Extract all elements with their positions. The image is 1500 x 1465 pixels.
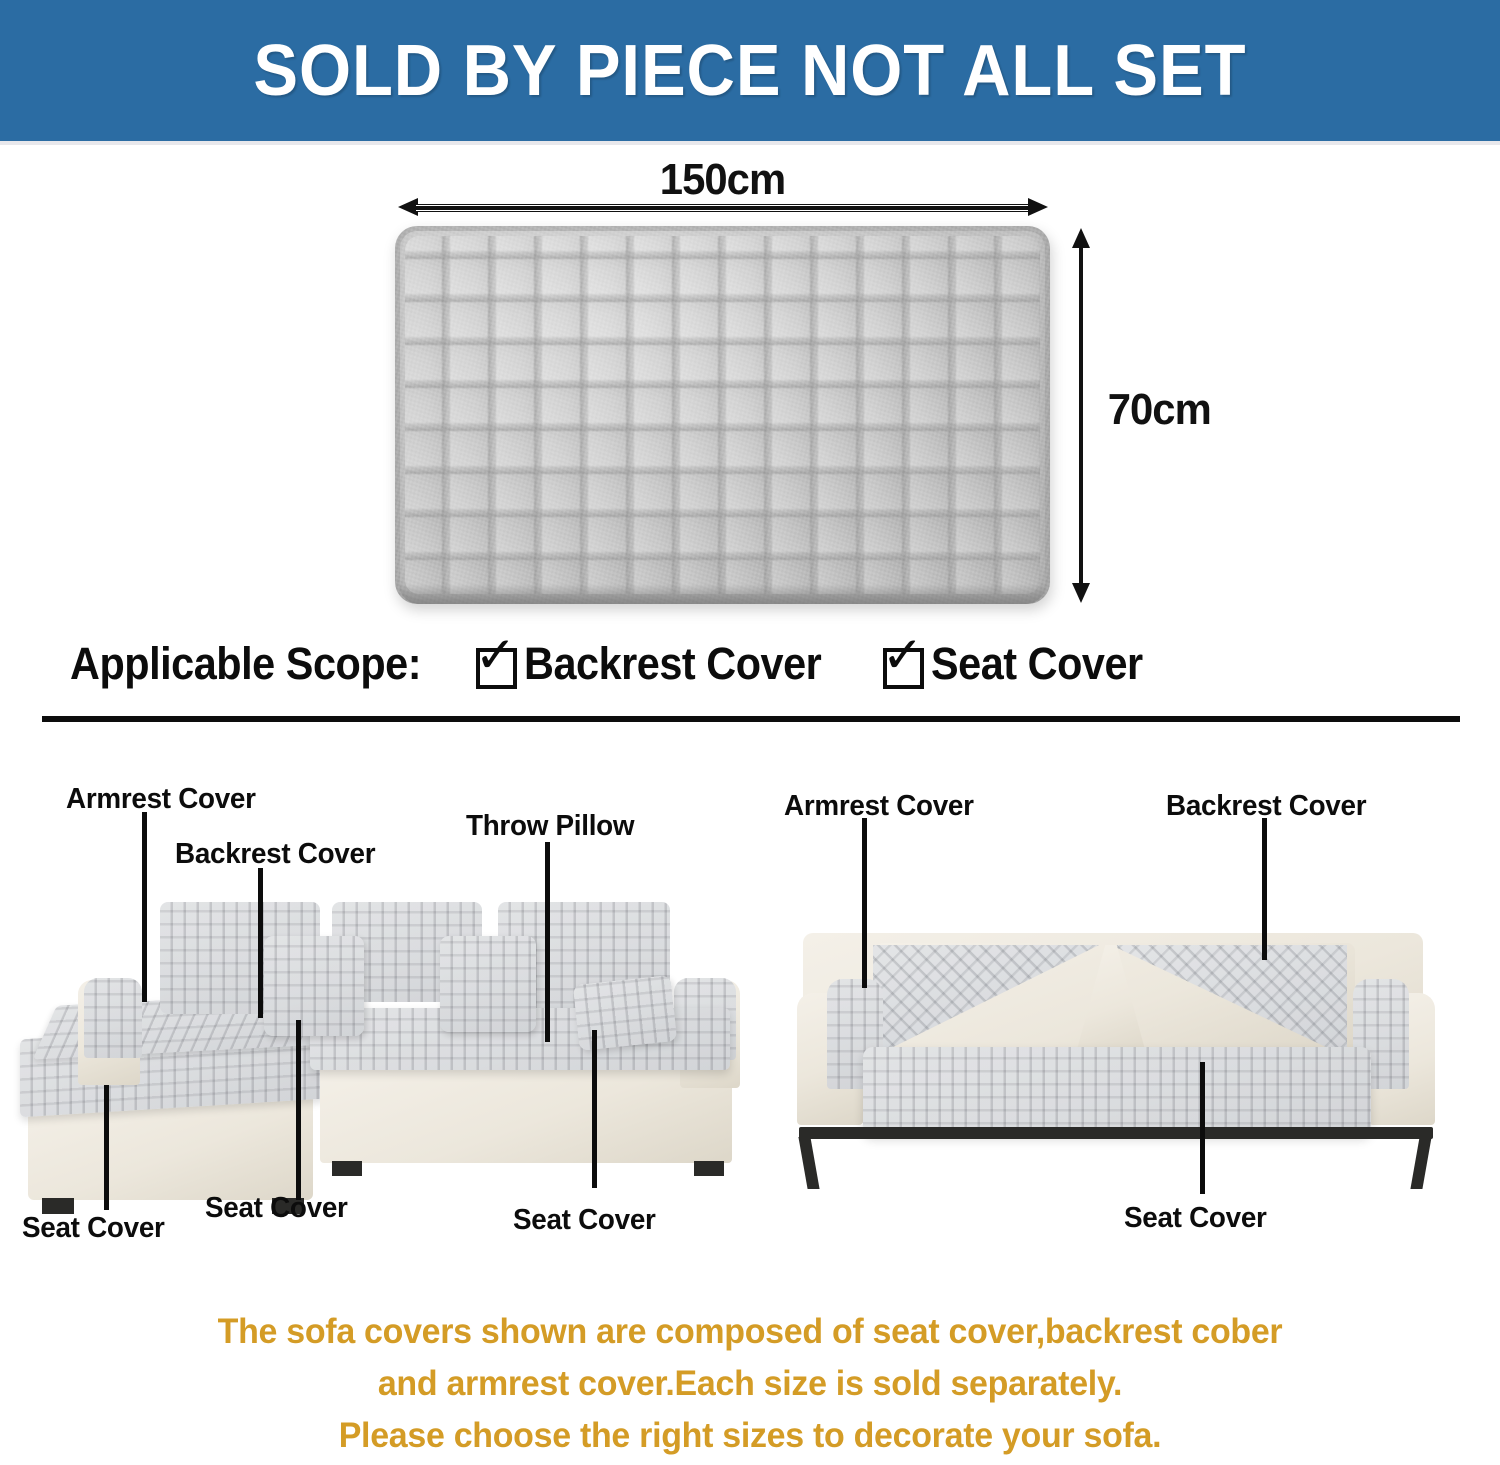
leader-line-seat-cover-chaise-top xyxy=(296,1020,301,1200)
leader-line-throw-pillow xyxy=(545,842,550,1042)
page-title: SOLD BY PIECE NOT ALL SET xyxy=(253,35,1246,107)
frame-leg-left xyxy=(798,1137,819,1189)
arrow-right-icon xyxy=(1028,198,1048,216)
leader-line-armrest-cover-left xyxy=(142,812,147,1002)
main-sofa-leg-right xyxy=(694,1161,724,1176)
check-icon: ✓ xyxy=(882,636,926,680)
checkbox-backrest-cover[interactable]: ✓ xyxy=(476,644,516,684)
header-underline xyxy=(0,141,1500,145)
frame-leg-right xyxy=(1410,1137,1431,1189)
bottom-note: The sofa covers shown are composed of se… xyxy=(23,1306,1478,1462)
checkbox-label-backrest-cover: Backrest Cover xyxy=(524,638,821,690)
height-dimension-arrow xyxy=(1072,228,1090,603)
height-dimension-label: 70cm xyxy=(1108,385,1211,435)
leader-line-backrest-cover-right xyxy=(1262,818,1267,960)
callout-backrest-cover-right: Backrest Cover xyxy=(1166,790,1366,823)
callout-armrest-cover-right: Armrest Cover xyxy=(784,790,974,823)
seat-cover xyxy=(863,1047,1371,1135)
checkbox-label-seat-cover: Seat Cover xyxy=(931,638,1143,690)
left-armrest-cover xyxy=(84,978,142,1058)
frame-rail xyxy=(799,1127,1433,1139)
product-quilted-pad xyxy=(395,226,1050,604)
left-sofa-diagram xyxy=(20,880,760,1240)
leader-line-seat-cover-main xyxy=(592,1030,597,1188)
applicable-scope-row: Applicable Scope: ✓ Backrest Cover ✓ Sea… xyxy=(70,636,1250,692)
throw-pillow-2 xyxy=(440,936,536,1032)
arrow-down-icon xyxy=(1072,583,1090,603)
applicable-scope-label: Applicable Scope: xyxy=(70,638,421,690)
check-icon: ✓ xyxy=(475,636,519,680)
callout-backrest-cover-left: Backrest Cover xyxy=(175,838,375,871)
bottom-note-line-1: The sofa covers shown are composed of se… xyxy=(23,1306,1478,1358)
width-dimension-arrow xyxy=(398,198,1048,216)
callout-armrest-cover-left: Armrest Cover xyxy=(66,783,256,816)
throw-pillow-1 xyxy=(264,936,364,1036)
dimension-bar xyxy=(416,205,1030,211)
fabric-texture xyxy=(395,226,1050,604)
pad-bottom-edge xyxy=(399,584,1046,604)
header-banner: SOLD BY PIECE NOT ALL SET xyxy=(0,0,1500,141)
leader-line-backrest-cover-left xyxy=(258,868,263,1018)
leader-line-armrest-cover-right xyxy=(862,818,867,988)
arrow-left-icon xyxy=(398,198,418,216)
leader-line-seat-cover-right xyxy=(1200,1062,1205,1194)
main-sofa-base xyxy=(320,1058,732,1163)
callout-seat-cover-right: Seat Cover xyxy=(1124,1202,1267,1235)
callout-seat-cover-chaise: Seat Cover xyxy=(22,1212,165,1245)
bottom-note-line-3: Please choose the right sizes to decorat… xyxy=(23,1410,1478,1462)
main-sofa-leg-left xyxy=(332,1161,362,1176)
throw-pillow-3 xyxy=(573,975,677,1051)
leader-line-seat-cover-chaise xyxy=(104,1085,109,1210)
checkbox-seat-cover[interactable]: ✓ xyxy=(883,644,923,684)
dimension-bar xyxy=(1079,242,1083,589)
callout-seat-cover-chaise-top: Seat Cover xyxy=(205,1192,348,1225)
callout-throw-pillow: Throw Pillow xyxy=(466,810,634,843)
callout-seat-cover-main: Seat Cover xyxy=(513,1204,656,1237)
section-divider xyxy=(42,716,1460,722)
right-sofa-diagram xyxy=(775,895,1500,1185)
bottom-note-line-2: and armrest cover.Each size is sold sepa… xyxy=(23,1358,1478,1410)
